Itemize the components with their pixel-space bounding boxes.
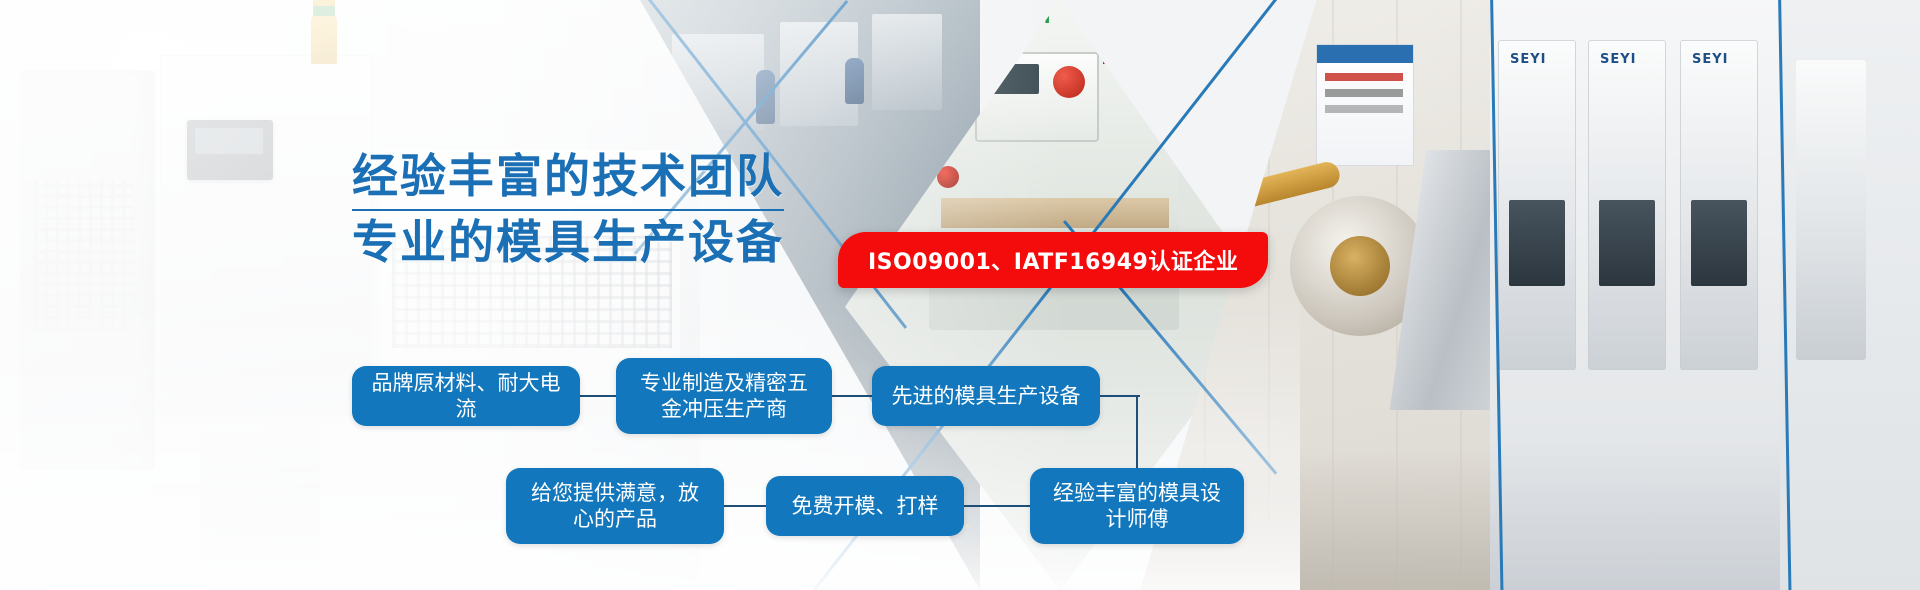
press-number-tag: 3 <box>1103 8 1143 64</box>
flow-connector <box>832 395 872 397</box>
shop-floor <box>1490 440 1790 590</box>
flow-connector <box>964 505 1030 507</box>
headline-line-1: 经验丰富的技术团队 <box>352 150 784 211</box>
flow-connector <box>580 395 616 397</box>
press-brand-label: SEYI <box>1510 52 1547 67</box>
sign-text-line <box>1325 105 1403 113</box>
flow-connector <box>1136 396 1138 468</box>
photo-panel-machinery-row <box>1780 0 1920 590</box>
flow-node-satisfaction[interactable]: 给您提供满意，放心的产品 <box>506 468 724 544</box>
photo-panel-press-row: SEYI SEYI SEYI <box>1490 0 1790 590</box>
press-machine <box>1796 60 1866 360</box>
press-die-area <box>1599 200 1655 286</box>
feature-flowchart: 品牌原材料、耐大电流 专业制造及精密五金冲压生产商 先进的模具生产设备 给您提供… <box>0 352 1300 562</box>
flow-node-manufacturer[interactable]: 专业制造及精密五金冲压生产商 <box>616 358 832 434</box>
flow-node-equipment[interactable]: 先进的模具生产设备 <box>872 366 1100 426</box>
press-brand-label: SEYI <box>1600 52 1637 67</box>
sign-header-bar <box>1317 45 1413 63</box>
hero-banner: KYORI 3 SEYI SEYI SEYI <box>0 0 1920 590</box>
flow-connector <box>1100 395 1140 397</box>
press-brand-label: SEYI <box>1692 52 1729 67</box>
wall-safety-sign <box>1316 44 1414 166</box>
flow-connector <box>724 505 766 507</box>
certification-badge: ISO09001、IATF16949认证企业 <box>838 232 1268 288</box>
press-die-area <box>1691 200 1747 286</box>
flow-node-free-sampling[interactable]: 免费开模、打样 <box>766 476 964 536</box>
sign-text-line <box>1325 73 1403 81</box>
sign-text-line <box>1325 89 1403 97</box>
press-die-area <box>1509 200 1565 286</box>
banner-headline: 经验丰富的技术团队 专业的模具生产设备 <box>352 150 784 270</box>
headline-line-2: 专业的模具生产设备 <box>352 211 784 269</box>
flow-node-brand-material[interactable]: 品牌原材料、耐大电流 <box>352 366 580 426</box>
flow-node-designer[interactable]: 经验丰富的模具设计师傅 <box>1030 468 1244 544</box>
